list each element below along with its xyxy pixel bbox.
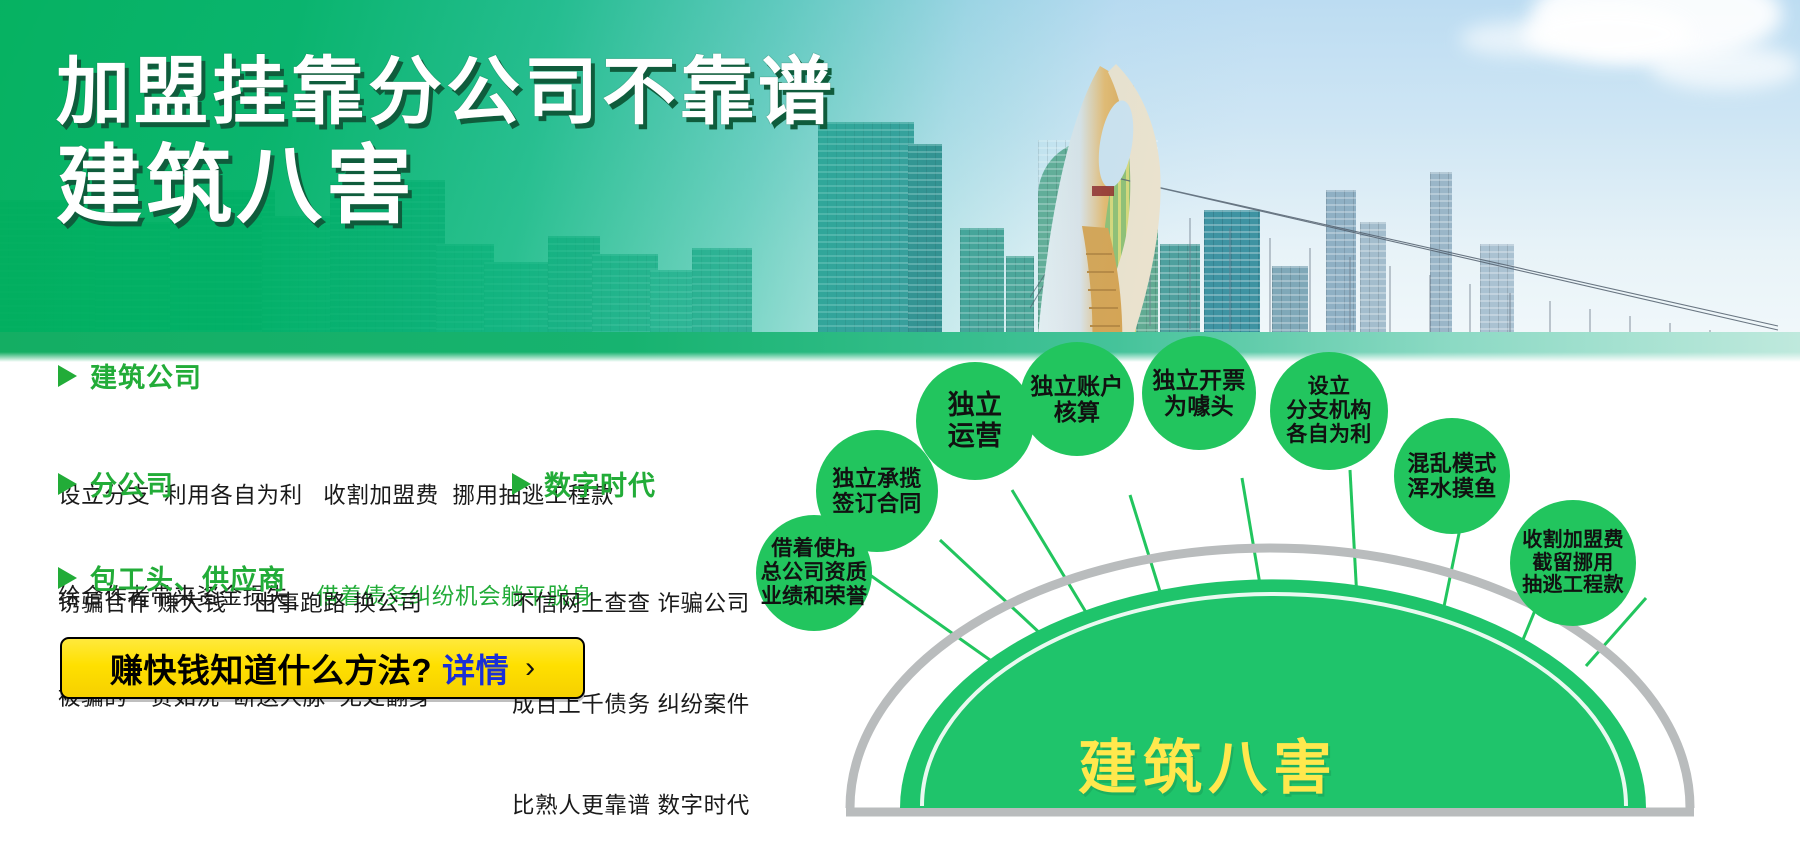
left-content-panel: 建筑公司 设立分支 利用各自为利 收割加盟费 挪用抽逃工程款 给合作者带来资金损… [0,362,780,844]
bubble-independent-account[interactable]: 独立账户 核算 [1020,342,1134,456]
hero-title-line-2: 建筑八害 [56,143,836,231]
bubble-line: 设立 [1286,375,1371,399]
body-line: 不信网上查查 诈骗公司 [512,587,750,621]
triangle-bullet-icon [58,473,77,495]
section-title: 分公司 [90,464,174,503]
bubble-line: 运营 [948,421,1003,452]
section-title: 建筑公司 [90,356,202,395]
bubble-line: 为噱头 [1152,393,1245,419]
bubble-line: 独立 [948,390,1003,421]
cta-detail-link[interactable]: 详情 [442,644,509,692]
bubble-line: 独立账户 [1030,373,1123,399]
section-heading: 包工头、供应商 [58,558,432,597]
bubble-line: 截留挪用 [1522,552,1624,575]
bubble-line: 抽逃工程款 [1522,574,1624,597]
bubble-independent-contracting[interactable]: 独立承揽 签订合同 [816,430,938,552]
bubble-line: 分支机构 [1286,399,1371,423]
cta-main-label: 赚快钱知道什么方法? [110,644,432,692]
dome-title: 建筑八害 [1078,720,1338,805]
bubble-independent-operation[interactable]: 独立 运营 [916,362,1034,480]
section-title: 数字时代 [544,464,656,503]
chevron-right-icon: › [525,651,535,685]
cta-button[interactable]: 赚快钱知道什么方法? 详情 › [60,637,585,699]
bubble-line: 签订合同 [832,491,921,516]
bubble-line: 独立承揽 [832,466,921,491]
bubble-setup-branch[interactable]: 设立 分支机构 各自为利 [1270,352,1388,470]
dome-diagram: 建筑八害 借着使用 总公司资质 业绩和荣誉 独立承揽 签订合同 独立 运营 独立… [780,330,1800,844]
poster-root: 加盟挂靠分公司不靠谱 建筑八害 建筑公司 设立分支 利用各自为利 收割加盟费 挪… [0,0,1800,844]
bubble-independent-invoicing[interactable]: 独立开票 为噱头 [1142,336,1256,450]
bubble-line: 总公司资质 [761,561,868,585]
bubble-line: 独立开票 [1152,367,1245,393]
bubble-line: 收割加盟费 [1522,529,1624,552]
bubble-line: 业绩和荣誉 [761,585,868,609]
bubble-franchise-fee-misuse[interactable]: 收割加盟费 截留挪用 抽逃工程款 [1510,500,1636,626]
section-heading: 数字时代 [512,464,750,503]
hero-banner: 加盟挂靠分公司不靠谱 建筑八害 [0,0,1800,362]
body-line: 比熟人更靠谱 数字时代 [512,789,750,823]
bubble-line: 核算 [1030,399,1123,425]
triangle-bullet-icon [58,365,77,387]
hero-title-group: 加盟挂靠分公司不靠谱 建筑八害 [56,54,836,231]
section-heading: 建筑公司 [58,356,614,395]
triangle-bullet-icon [58,567,77,589]
triangle-bullet-icon [512,473,531,495]
section-title: 包工头、供应商 [90,558,286,597]
section-heading: 分公司 [58,464,423,503]
hero-title-line-1: 加盟挂靠分公司不靠谱 [56,54,836,129]
bubble-line: 混乱模式 [1407,451,1496,476]
bubble-chaotic-mode[interactable]: 混乱模式 浑水摸鱼 [1394,418,1510,534]
bubble-line: 各自为利 [1286,423,1371,447]
bubble-line: 浑水摸鱼 [1407,476,1496,501]
